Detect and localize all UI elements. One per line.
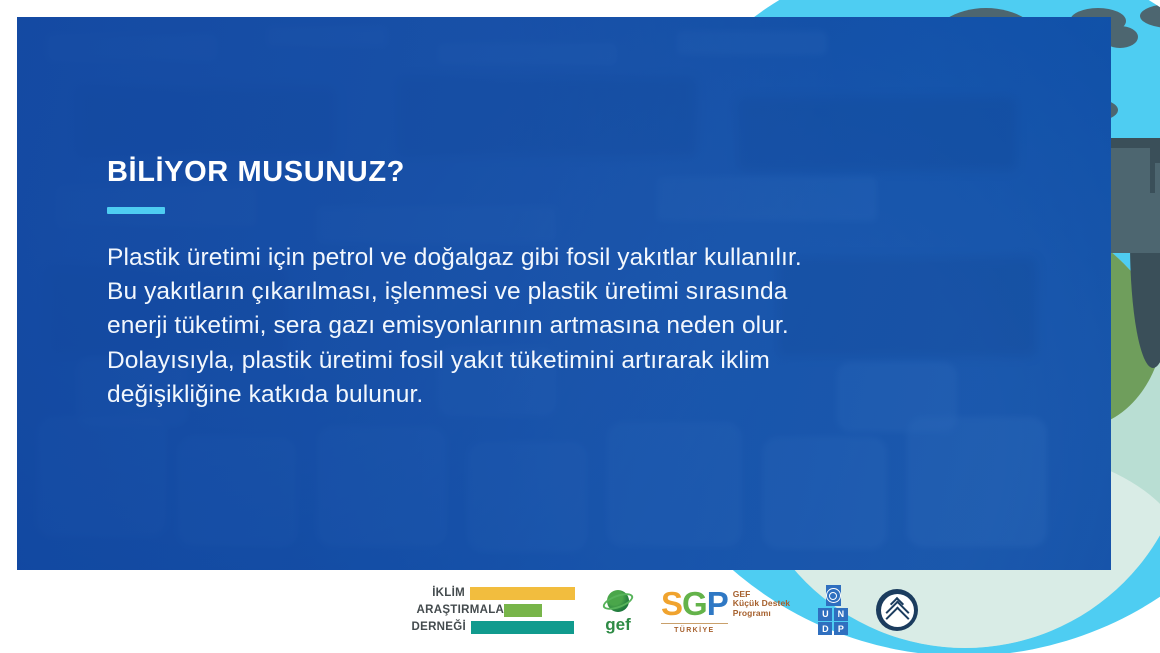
sgp-letter-g: G — [682, 585, 707, 622]
body-paragraph: Plastik üretimi için petrol ve doğalgaz … — [107, 241, 807, 412]
undp-logo: U N D P — [818, 585, 848, 635]
undp-letter: D — [818, 622, 832, 635]
sgp-main-column: SGP TÜRKİYE — [661, 587, 728, 634]
slide-root: BİLİYOR MUSUNUZ? Plastik üretimi için pe… — [0, 0, 1160, 653]
iad-color-bar — [504, 604, 542, 617]
iad-line: ARAŞTIRMALARI — [417, 603, 542, 617]
iklim-arastirmalari-dernegi-logo: İKLİM ARAŞTIRMALARI DERNEĞİ — [383, 586, 575, 634]
sgp-letters: SGP — [661, 587, 728, 620]
undp-letter: N — [834, 608, 848, 621]
factory-building — [1155, 163, 1160, 221]
gef-wordmark: gef — [605, 617, 631, 633]
iad-line: DERNEĞİ — [384, 620, 574, 634]
seal-outer-ring — [876, 589, 918, 631]
undp-letter: P — [834, 622, 848, 635]
text-content-block: BİLİYOR MUSUNUZ? Plastik üretimi için pe… — [107, 157, 807, 412]
iad-line-label: İKLİM — [383, 586, 465, 600]
un-globe-icon — [826, 588, 841, 603]
sgp-subtitle-line: Programı — [733, 609, 790, 619]
sgp-letter-s: S — [661, 585, 682, 622]
sgp-subtitle: GEF Küçük Destek Programı — [733, 587, 790, 619]
partner-logos-row: İKLİM ARAŞTIRMALARI DERNEĞİ gef SGP — [0, 575, 1160, 645]
sgp-logo: SGP TÜRKİYE GEF Küçük Destek Programı — [661, 587, 790, 634]
main-photo-card: BİLİYOR MUSUNUZ? Plastik üretimi için pe… — [17, 17, 1111, 570]
page-title: BİLİYOR MUSUNUZ? — [107, 157, 807, 189]
iad-color-bar — [470, 587, 575, 600]
accent-underline — [107, 207, 165, 214]
un-emblem-icon — [826, 585, 841, 606]
circular-seal-logo — [876, 589, 918, 631]
sgp-country-label: TÜRKİYE — [661, 623, 728, 634]
iad-line: İKLİM — [383, 586, 575, 600]
undp-letter-grid: U N D P — [818, 608, 848, 636]
gef-globe-icon — [603, 588, 633, 616]
iad-color-bar — [471, 621, 574, 634]
gef-logo: gef — [603, 588, 633, 633]
smoke-puff — [1140, 4, 1160, 28]
undp-letter: U — [818, 608, 832, 621]
seal-inner-disc — [881, 594, 914, 627]
iad-line-label: ARAŞTIRMALARI — [417, 603, 499, 617]
sgp-letter-p: P — [707, 585, 728, 622]
iad-line-label: DERNEĞİ — [384, 620, 466, 634]
